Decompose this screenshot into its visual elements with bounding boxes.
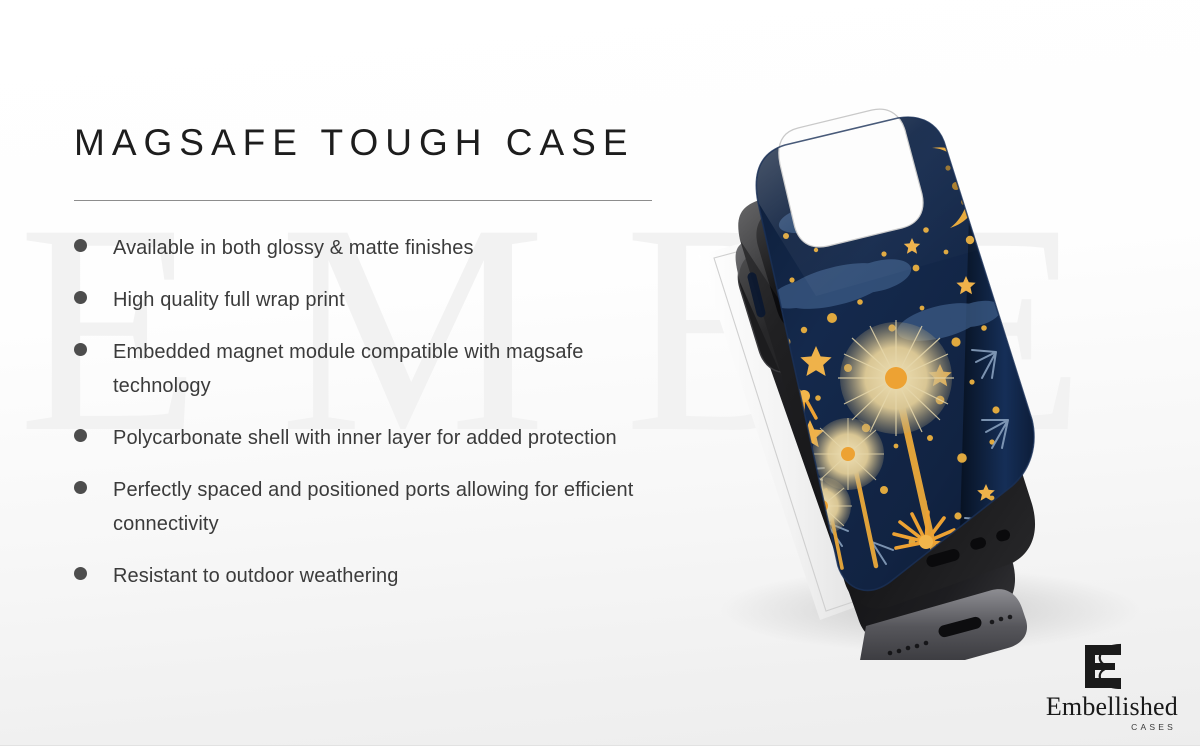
brand-logo: Embellished CASES (1028, 643, 1178, 732)
bullet-dot-icon (74, 343, 87, 356)
list-item: Resistant to outdoor weathering (74, 559, 674, 593)
feature-list: Available in both glossy & matte finishe… (74, 231, 674, 593)
brand-name: Embellished (1028, 694, 1178, 720)
feature-text: Resistant to outdoor weathering (113, 559, 399, 593)
brand-subtitle: CASES (1028, 722, 1178, 732)
product-feature-banner: EMBE MAGSAFE TOUGH CASE Available in bot… (0, 0, 1200, 746)
feature-text: High quality full wrap print (113, 283, 345, 317)
embellished-e-monogram-icon (1028, 643, 1178, 689)
title-divider (74, 200, 652, 201)
page-title: MAGSAFE TOUGH CASE (74, 118, 674, 168)
feature-text: Available in both glossy & matte finishe… (113, 231, 474, 265)
bullet-dot-icon (74, 239, 87, 252)
list-item: Embedded magnet module compatible with m… (74, 335, 674, 403)
list-item: High quality full wrap print (74, 283, 674, 317)
bullet-dot-icon (74, 291, 87, 304)
product-image (640, 90, 1200, 660)
list-item: Polycarbonate shell with inner layer for… (74, 421, 674, 455)
product-exploded-view (640, 90, 1200, 660)
feature-text: Perfectly spaced and positioned ports al… (113, 473, 641, 541)
list-item: Perfectly spaced and positioned ports al… (74, 473, 674, 541)
bullet-dot-icon (74, 429, 87, 442)
list-item: Available in both glossy & matte finishe… (74, 231, 674, 265)
feature-text: Embedded magnet module compatible with m… (113, 335, 641, 403)
bullet-dot-icon (74, 481, 87, 494)
copy-column: MAGSAFE TOUGH CASE Available in both glo… (74, 118, 674, 611)
bullet-dot-icon (74, 567, 87, 580)
feature-text: Polycarbonate shell with inner layer for… (113, 421, 617, 455)
